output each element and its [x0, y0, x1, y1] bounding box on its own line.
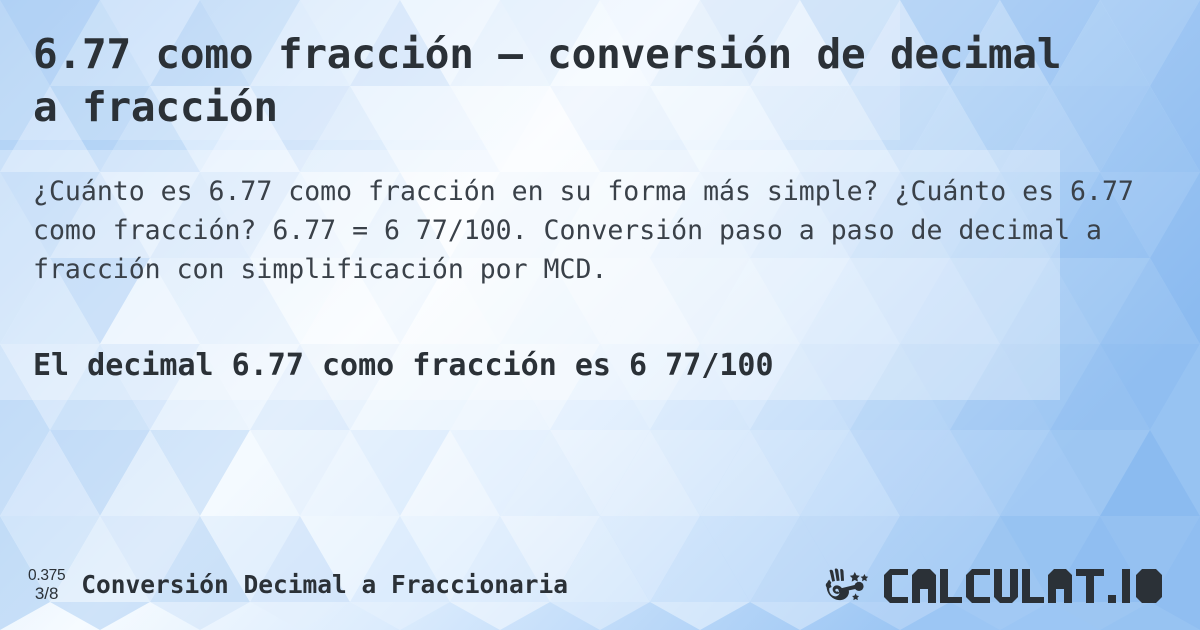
site-section-label: Conversión Decimal a Fraccionaria — [81, 570, 568, 599]
footer-left: 0.375 3/8 Conversión Decimal a Fracciona… — [28, 566, 568, 603]
og-image-card: 6.77 como fracción – conversión de decim… — [0, 0, 1200, 630]
page-description: ¿Cuánto es 6.77 como fracción en su form… — [33, 172, 1148, 289]
brand-logo[interactable] — [824, 566, 1182, 606]
page-title: 6.77 como fracción – conversión de decim… — [33, 28, 1093, 134]
fraction-logo-numerator: 0.375 — [28, 568, 65, 585]
fraction-logo-icon: 0.375 3/8 — [28, 566, 65, 603]
hand-magic-wand-icon — [824, 566, 878, 606]
calculatio-wordmark — [882, 567, 1182, 605]
fraction-logo-denominator: 3/8 — [28, 585, 65, 603]
answer-statement: El decimal 6.77 como fracción es 6 77/10… — [33, 345, 1163, 387]
